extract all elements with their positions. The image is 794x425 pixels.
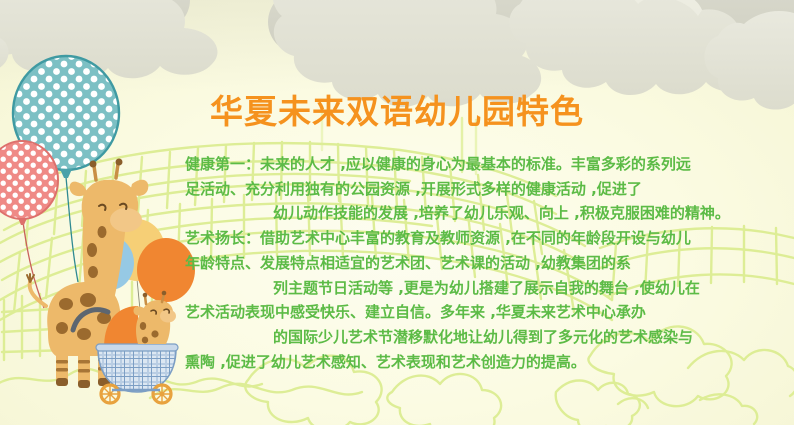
body-line: 幼儿动作技能的发展 ,培养了幼儿乐观、向上 ,积极克服困难的精神。 [185, 201, 785, 226]
body-line: 艺术活动表现中感受快乐、建立自信。多年来 ,华夏未来艺术中心承办 [185, 300, 785, 325]
body-line: 的国际少儿艺术节潜移默化地让幼儿得到了多元化的艺术感染与 [185, 325, 785, 350]
baby-giraffe [133, 291, 176, 344]
body-line: 列主题节日活动等 ,更是为幼儿搭建了展示自我的舞台 ,使幼儿在 [185, 276, 785, 301]
adult-giraffe [27, 159, 148, 389]
body-copy: 健康第一：未来的人才 ,应以健康的身心为最基本的标准。丰富多彩的系列远 足活动、… [185, 152, 785, 374]
body-line: 年龄特点、发展特点相适宜的艺术团、艺术课的活动 ,幼教集团的系 [185, 251, 785, 276]
red-polka-dot-balloon [0, 141, 58, 225]
balloon-strings-trio [110, 279, 167, 354]
body-line: 艺术扬长：借助艺术中心丰富的教育及教师资源 ,在不同的年龄段开设与幼儿 [185, 226, 785, 251]
yellow-balloon [109, 219, 165, 281]
baby-stroller [73, 306, 178, 403]
body-line: 足活动、充分利用独有的公园资源 ,开展形式多样的健康活动 ,促进了 [185, 177, 785, 202]
balloon-string-red [23, 222, 44, 308]
blue-balloon [86, 236, 134, 290]
body-line: 熏陶 ,促进了幼儿艺术感知、艺术表现和艺术创造力的提高。 [185, 350, 785, 375]
body-line: 健康第一：未来的人才 ,应以健康的身心为最基本的标准。丰富多彩的系列远 [185, 152, 785, 177]
poster-canvas: 华夏未来双语幼儿园特色 健康第一：未来的人才 ,应以健康的身心为最基本的标准。丰… [0, 0, 794, 425]
balloon-string-teal [66, 177, 78, 282]
page-title: 华夏未来双语幼儿园特色 [0, 92, 794, 132]
cloud-back-layer [0, 0, 794, 57]
